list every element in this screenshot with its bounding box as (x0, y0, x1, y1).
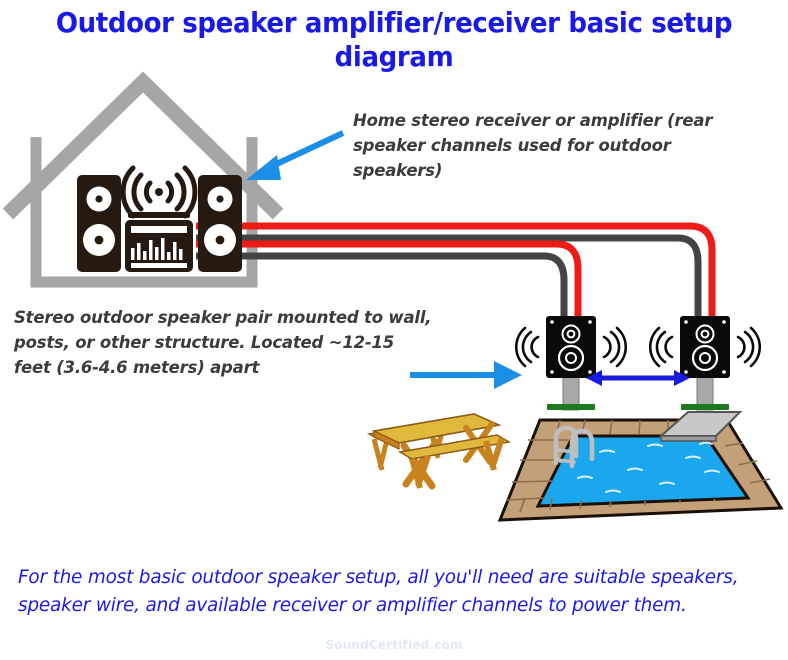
stereo-receiver[interactable] (125, 212, 193, 272)
sound-waves-icon (123, 168, 195, 216)
indoor-speaker-left[interactable] (77, 175, 121, 272)
swimming-pool[interactable] (500, 412, 781, 520)
annotation-outdoor-speakers: Stereo outdoor speaker pair mounted to w… (14, 305, 434, 380)
speaker-spacing-arrow (586, 370, 690, 386)
picnic-table[interactable] (369, 414, 509, 488)
bottom-caption: For the most basic outdoor speaker setup… (18, 563, 740, 619)
outdoor-speaker-right[interactable] (650, 316, 760, 410)
annotation-receiver: Home stereo receiver or amplifier (rear … (353, 108, 743, 183)
pointer-arrow-to-receiver (246, 133, 343, 180)
diagram-canvas: Outdoor speaker amplifier/receiver basic… (0, 0, 788, 660)
watermark: SoundCertified.com (0, 638, 788, 652)
indoor-speaker-right[interactable] (198, 175, 242, 272)
pool-ladder (556, 428, 592, 466)
outdoor-speaker-left[interactable] (516, 316, 626, 410)
